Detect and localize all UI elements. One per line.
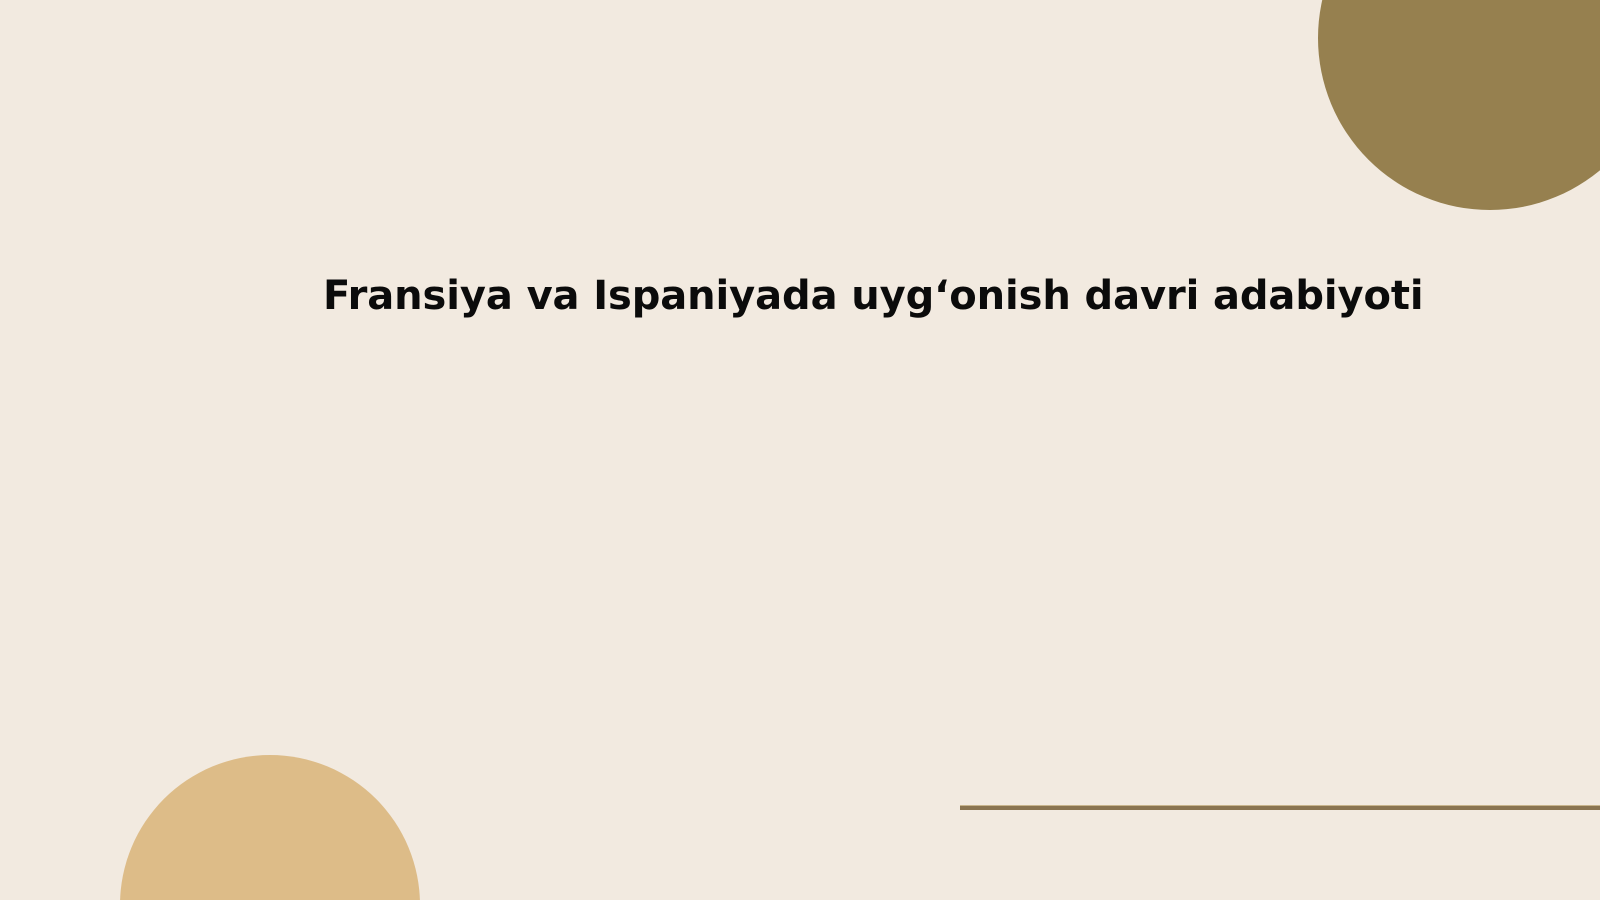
title-block: Fransiya va Ispaniyada uyg‘onish davri a… [323,272,1283,321]
decorative-circle-bottom-left [120,755,420,900]
slide-canvas: Fransiya va Ispaniyada uyg‘onish davri a… [0,0,1600,900]
page-title: Fransiya va Ispaniyada uyg‘onish davri a… [323,272,1283,321]
decorative-circle-top-right [1318,0,1600,210]
accent-rule-divider [960,805,1600,810]
